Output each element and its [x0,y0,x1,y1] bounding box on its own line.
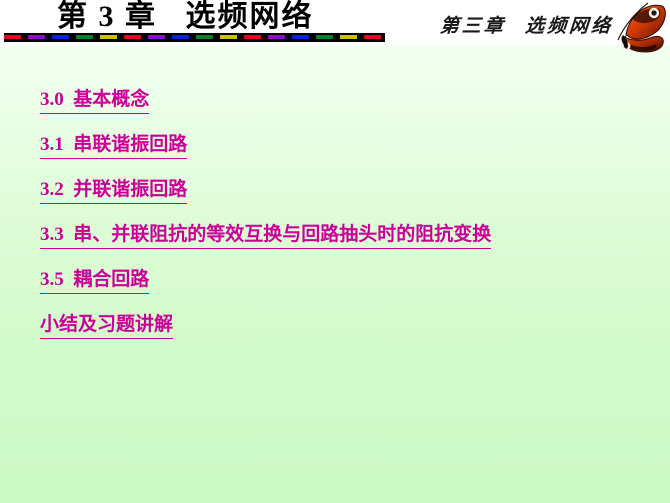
header-side-title: 第三章 选频网络 [439,11,614,38]
agenda-item-label: 3.1 串联谐振回路 [40,133,187,159]
agenda-list: 3.0 基本概念 3.1 串联谐振回路 3.2 并联谐振回路 3.3 串、并联阻… [40,88,660,358]
agenda-item-3-3[interactable]: 3.3 串、并联阻抗的等效互换与回路抽头时的阻抗变换 [40,223,660,268]
colored-dash-rule-icon [4,33,385,42]
agenda-item-label: 3.2 并联谐振回路 [40,178,187,204]
agenda-item-summary[interactable]: 小结及习题讲解 [40,313,660,358]
divider-dashes [4,35,385,39]
butterfly-icon [596,0,670,58]
agenda-item-label: 3.3 串、并联阻抗的等效互换与回路抽头时的阻抗变换 [40,223,491,249]
agenda-item-label: 小结及习题讲解 [40,313,173,339]
slide-canvas: 第 3 章 选频网络 第三章 选频网络 [0,0,670,503]
agenda-item-label: 3.5 耦合回路 [40,268,149,294]
agenda-item-3-5[interactable]: 3.5 耦合回路 [40,268,660,313]
agenda-item-3-0[interactable]: 3.0 基本概念 [40,88,660,133]
agenda-item-3-2[interactable]: 3.2 并联谐振回路 [40,178,660,223]
agenda-item-3-1[interactable]: 3.1 串联谐振回路 [40,133,660,178]
agenda-item-label: 3.0 基本概念 [40,88,149,114]
page-title: 第 3 章 选频网络 [57,0,314,35]
